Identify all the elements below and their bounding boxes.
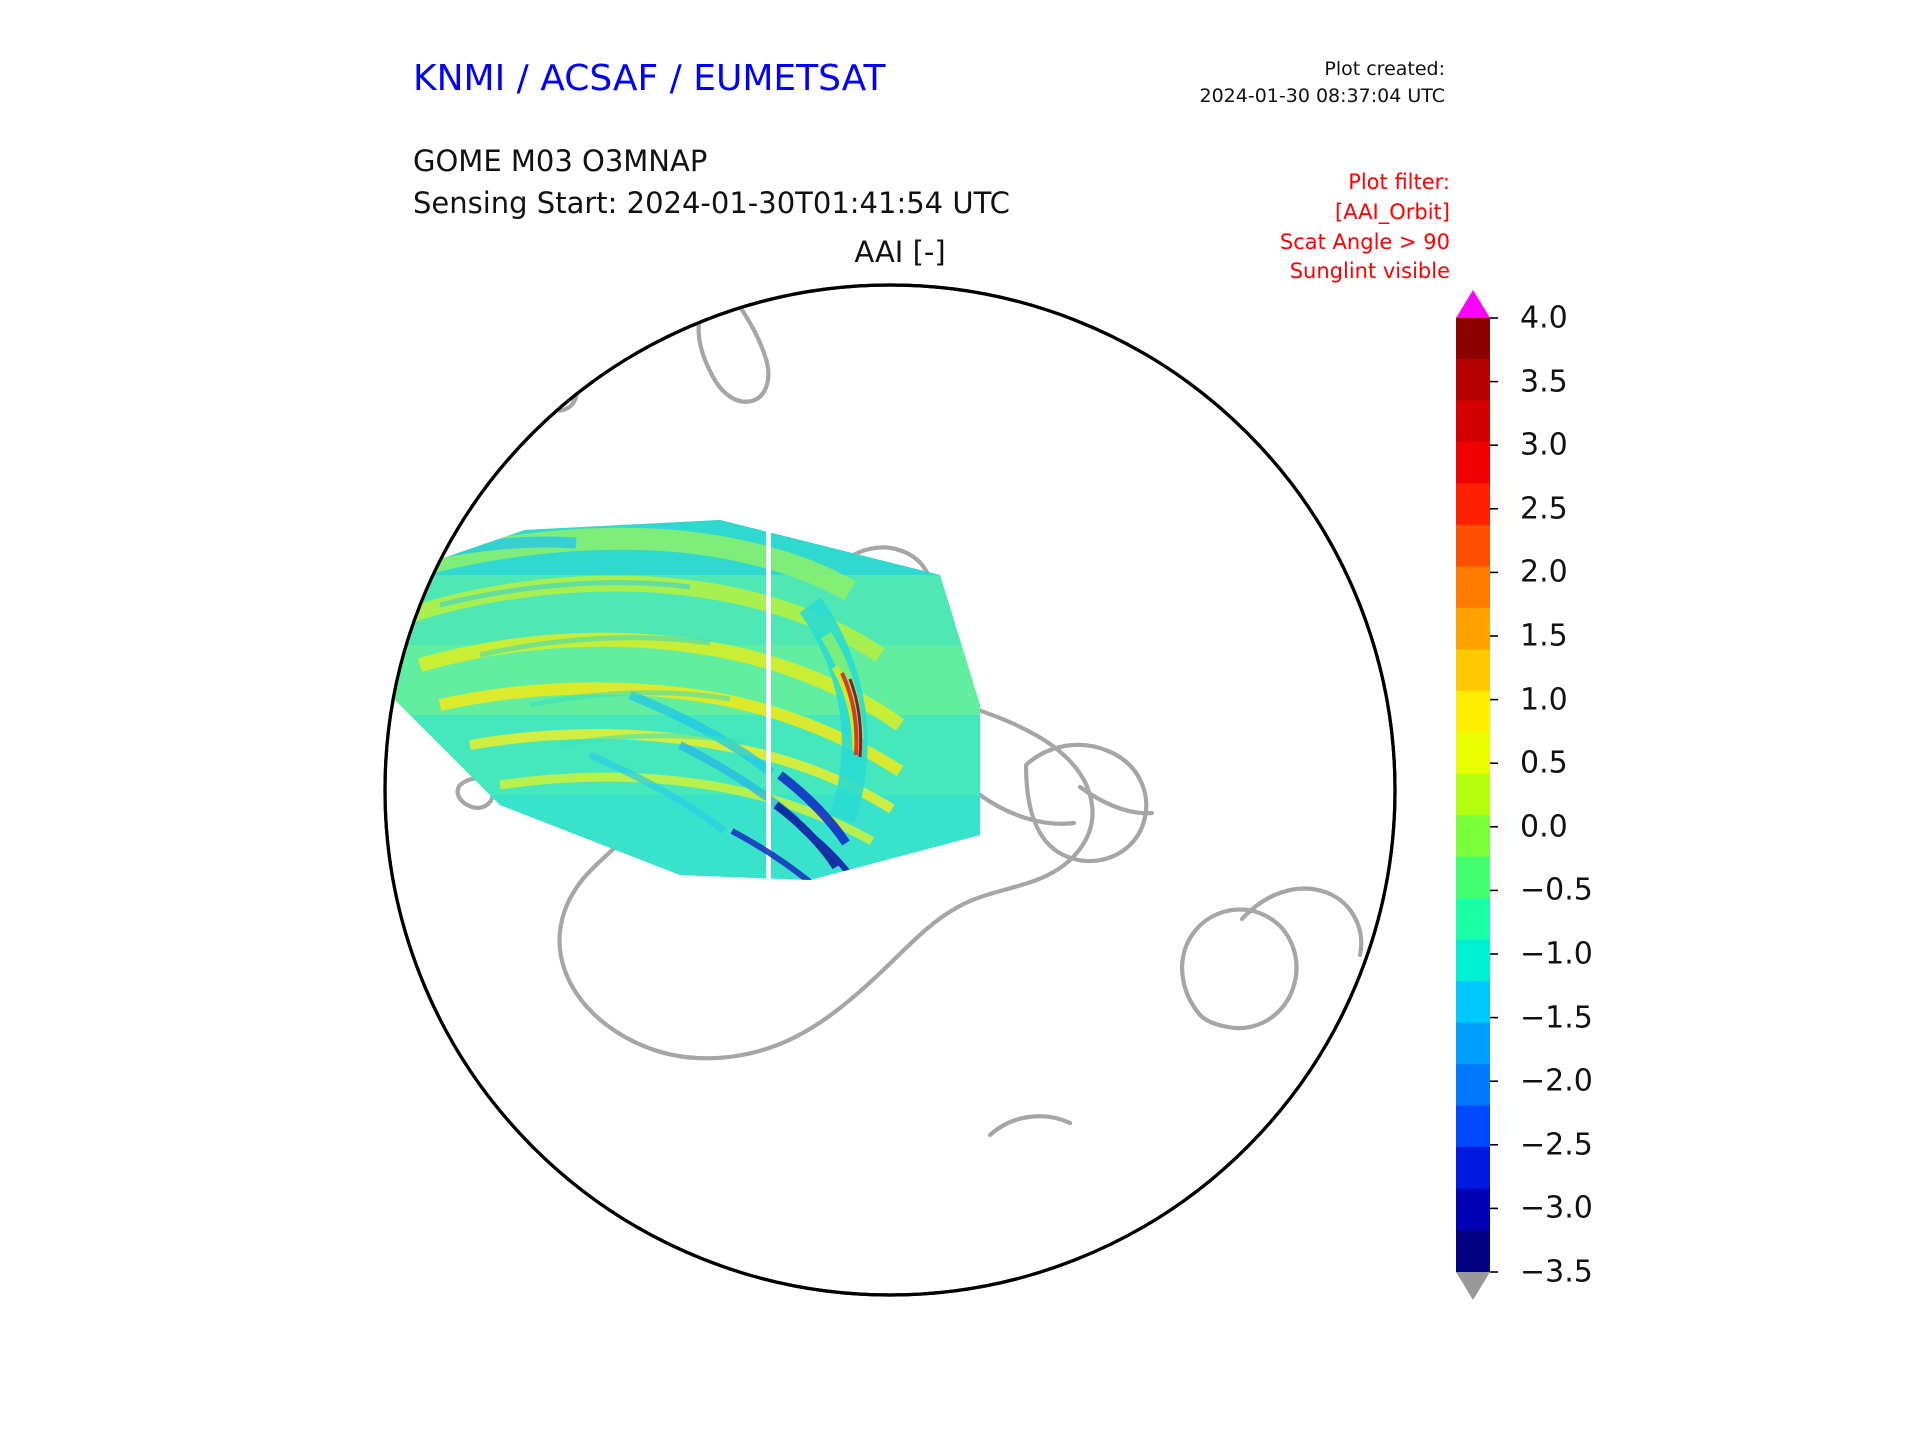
colorbar-band xyxy=(1456,442,1490,484)
filter-title: Plot filter: xyxy=(1120,168,1450,198)
sensing-start: Sensing Start: 2024-01-30T01:41:54 UTC xyxy=(413,182,1010,224)
colorbar-tick-label: 3.5 xyxy=(1520,364,1568,399)
colorbar-band xyxy=(1456,400,1490,442)
variable-label: AAI [-] xyxy=(700,235,1100,269)
colorbar: 4.03.53.02.52.01.51.00.50.0−0.5−1.0−1.5−… xyxy=(1448,280,1658,1310)
colorbar-under-triangle xyxy=(1456,1272,1490,1300)
colorbar-tick-label: 3.0 xyxy=(1520,428,1568,463)
colorbar-tick-label: −3.5 xyxy=(1520,1255,1593,1290)
colorbar-band xyxy=(1456,898,1490,940)
colorbar-band xyxy=(1456,359,1490,401)
colorbar-band xyxy=(1456,649,1490,691)
colorbar-tick-label: 4.0 xyxy=(1520,301,1568,336)
colorbar-tick-label: 0.0 xyxy=(1520,809,1568,844)
plot-created-block: Plot created: 2024-01-30 08:37:04 UTC xyxy=(1020,56,1445,110)
colorbar-over-triangle xyxy=(1456,290,1490,318)
colorbar-band xyxy=(1456,318,1490,360)
colorbar-band xyxy=(1456,1064,1490,1106)
colorbar-band xyxy=(1456,1189,1490,1231)
plot-title-block: GOME M03 O3MNAP Sensing Start: 2024-01-3… xyxy=(413,140,1010,224)
plot-created-label: Plot created: xyxy=(1020,56,1445,83)
colorbar-band xyxy=(1456,566,1490,608)
colorbar-tick-label: −0.5 xyxy=(1520,873,1593,908)
colorbar-tick-label: −2.5 xyxy=(1520,1127,1593,1162)
colorbar-tick-label: 0.5 xyxy=(1520,746,1568,781)
colorbar-band xyxy=(1456,1023,1490,1065)
colorbar-tick-label: 2.5 xyxy=(1520,491,1568,526)
colorbar-tick-label: −1.0 xyxy=(1520,937,1593,972)
plot-created-timestamp: 2024-01-30 08:37:04 UTC xyxy=(1020,83,1445,110)
colorbar-band xyxy=(1456,691,1490,733)
colorbar-band xyxy=(1456,1106,1490,1148)
colorbar-tick-label: 1.0 xyxy=(1520,682,1568,717)
colorbar-band xyxy=(1456,483,1490,525)
filter-name: [AAI_Orbit] xyxy=(1120,198,1450,228)
filter-scat-angle: Scat Angle > 90 xyxy=(1120,228,1450,258)
colorbar-band xyxy=(1456,1230,1490,1272)
colorbar-band xyxy=(1456,1147,1490,1189)
colorbar-tick-label: −3.0 xyxy=(1520,1191,1593,1226)
plot-filter-block: Plot filter: [AAI_Orbit] Scat Angle > 90… xyxy=(1120,168,1450,287)
colorbar-tick-label: 2.0 xyxy=(1520,555,1568,590)
plot-canvas: KNMI / ACSAF / EUMETSAT Plot created: 20… xyxy=(0,0,1920,1440)
map-globe xyxy=(380,275,1400,1305)
colorbar-tick-label: −2.0 xyxy=(1520,1064,1593,1099)
colorbar-band xyxy=(1456,981,1490,1023)
colorbar-band xyxy=(1456,815,1490,857)
colorbar-band xyxy=(1456,732,1490,774)
colorbar-band xyxy=(1456,608,1490,650)
colorbar-tick-label: −1.5 xyxy=(1520,1000,1593,1035)
colorbar-band xyxy=(1456,857,1490,899)
colorbar-band xyxy=(1456,525,1490,567)
colorbar-band xyxy=(1456,774,1490,816)
product-title: GOME M03 O3MNAP xyxy=(413,140,1010,182)
organisation-header: KNMI / ACSAF / EUMETSAT xyxy=(413,58,885,99)
colorbar-tick-label: 1.5 xyxy=(1520,619,1568,654)
colorbar-band xyxy=(1456,940,1490,982)
